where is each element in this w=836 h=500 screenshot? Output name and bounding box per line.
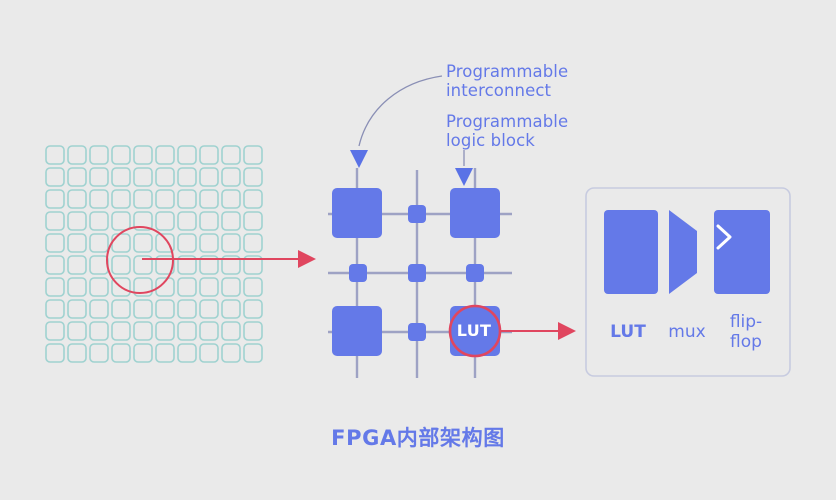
lut-shape[interactable] <box>604 210 658 294</box>
logic-block-bottom-left[interactable] <box>332 306 382 356</box>
logicblock-arrowhead <box>455 168 473 186</box>
switch-box-right-mid[interactable] <box>466 264 484 282</box>
logic-block-top-left[interactable] <box>332 188 382 238</box>
switch-box-center-mid[interactable] <box>408 264 426 282</box>
clb-detail-group <box>328 168 560 378</box>
cell-panel-label-lut: LUT <box>596 322 660 342</box>
diagram-title: FPGA内部架构图 <box>0 422 836 452</box>
logic-block-top-right[interactable] <box>450 188 500 238</box>
annotation-programmable-interconnect: Programmable interconnect <box>446 62 568 100</box>
diagram-canvas: Programmable interconnect Programmable l… <box>0 0 836 500</box>
mux-shape[interactable] <box>669 210 697 294</box>
cell-panel-label-mux: mux <box>658 322 716 342</box>
cell-panel-label-flipflop: flip- flop <box>714 312 778 352</box>
switch-box-mid-bottom[interactable] <box>408 323 426 341</box>
flipflop-shape[interactable] <box>714 210 770 294</box>
interconnect-arrowhead <box>350 150 368 168</box>
fpga-fabric-grid <box>46 146 262 362</box>
switch-box-left-mid[interactable] <box>349 264 367 282</box>
annotation-programmable-logic-block: Programmable logic block <box>446 112 568 150</box>
switch-box-mid-top[interactable] <box>408 205 426 223</box>
interconnect-leader-line <box>359 76 442 146</box>
